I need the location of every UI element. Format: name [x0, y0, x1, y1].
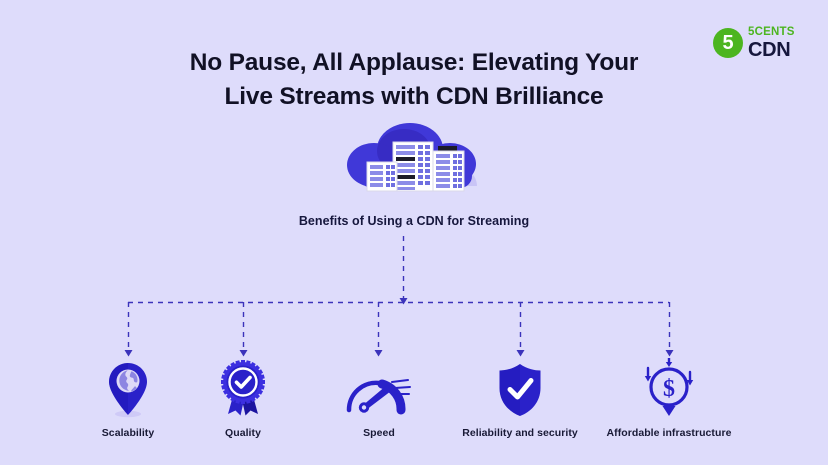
page-title: No Pause, All Applause: Elevating Your L…	[0, 46, 828, 114]
speedometer-icon	[304, 358, 454, 418]
logo-name-top: 5CENTS	[748, 27, 795, 39]
benefit-label: Affordable infrastructure	[594, 427, 744, 439]
infographic-canvas: 5 5CENTS CDN No Pause, All Applause: Ele…	[0, 0, 828, 465]
benefit-label: Quality	[168, 427, 318, 439]
award-ribbon-check-icon	[168, 358, 318, 418]
cloud-server-icon	[338, 118, 490, 200]
page-title-line-1: No Pause, All Applause: Elevating Your	[0, 46, 828, 80]
dollar-circle-down-arrows-icon: $	[594, 358, 744, 418]
svg-text:$: $	[663, 376, 675, 402]
benefit-item-speed[interactable]: Speed	[304, 358, 454, 439]
benefit-item-affordable-infrastructure[interactable]: $ Affordable inf	[594, 358, 744, 439]
benefit-label: Speed	[304, 427, 454, 439]
page-title-line-2: Live Streams with CDN Brilliance	[0, 80, 828, 114]
benefit-item-quality[interactable]: Quality	[168, 358, 318, 439]
center-node-label: Benefits of Using a CDN for Streaming	[0, 214, 828, 228]
benefit-label: Reliability and security	[445, 427, 595, 439]
shield-check-icon	[445, 358, 595, 418]
benefit-item-reliability-and-security[interactable]: Reliability and security	[445, 358, 595, 439]
